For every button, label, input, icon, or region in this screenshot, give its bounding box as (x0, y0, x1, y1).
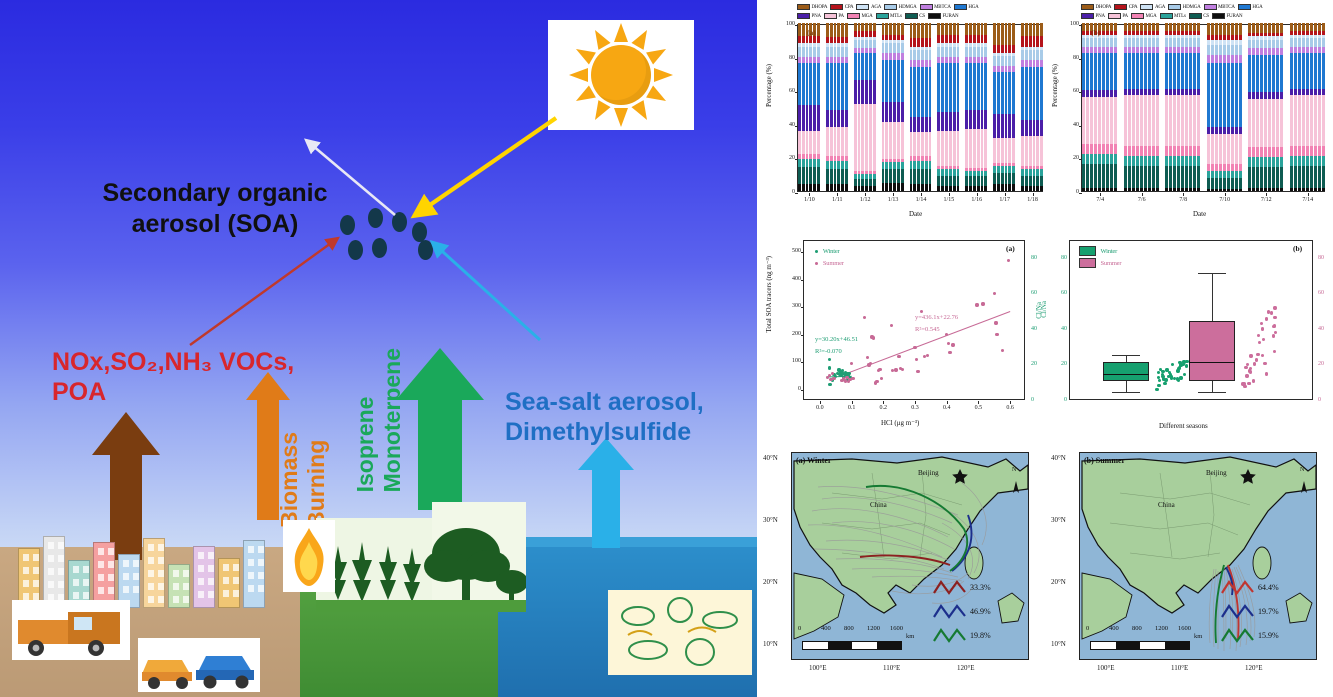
bar-segment (984, 186, 987, 191)
bar-segment (1165, 146, 1168, 156)
bar-segment (869, 80, 872, 104)
raw-data-point (1245, 374, 1248, 377)
bar-segment (1152, 188, 1155, 191)
city-illustration (18, 532, 268, 608)
bar-segment (1248, 147, 1251, 157)
bar-segment (1082, 154, 1085, 164)
bar-segment (1298, 95, 1301, 145)
bar-segment (1219, 171, 1222, 178)
bar-segment (1290, 89, 1293, 96)
bar-segment (1235, 189, 1238, 191)
bar-segment (1005, 166, 1008, 173)
bar-segment (869, 40, 872, 48)
bar-segment (1033, 36, 1036, 46)
bar-segment (941, 47, 944, 57)
legend-swatch-pa (1108, 13, 1121, 19)
bar-segment (1169, 47, 1172, 54)
legend-item-hdmga: HDMGA (1168, 4, 1200, 10)
xlabel-stacked-winter: Date (909, 210, 922, 218)
bar-segment (1102, 164, 1105, 188)
bar-segment (1173, 146, 1176, 156)
bar-segment (865, 40, 868, 48)
bar-segment (830, 37, 833, 44)
y-tick-label: 80 (1055, 255, 1067, 261)
bar-segment (1148, 188, 1151, 191)
x-tick-label: 1/13 (882, 197, 904, 203)
cluster-line-icon (932, 603, 968, 621)
scale-tick-label: 800 (1132, 625, 1142, 632)
scale-unit-label: km (1194, 633, 1202, 640)
bar-segment (1124, 146, 1127, 156)
bar-segment (984, 63, 987, 110)
bar-segment (1272, 55, 1275, 92)
raw-data-point (1158, 379, 1161, 382)
stacked-bar (929, 23, 932, 191)
bar-segment (1231, 189, 1234, 191)
bar-segment (1012, 166, 1015, 173)
bar-segment (1185, 53, 1188, 88)
bar-segment (1005, 184, 1008, 191)
bar-segment (1211, 189, 1214, 191)
cluster-line-icon (1220, 579, 1256, 597)
bar-segment (1094, 90, 1097, 97)
bar-segment (1106, 97, 1109, 144)
truck-illustration (12, 600, 130, 660)
bar-segment (901, 102, 904, 122)
bar-segment (925, 50, 928, 60)
bar-segment (977, 129, 980, 168)
bar-segment (893, 23, 896, 35)
bar-segment (1152, 23, 1155, 31)
stacked-bar (1094, 23, 1097, 191)
bar-segment (1114, 144, 1117, 154)
bar-segment (993, 72, 996, 113)
bar-segment (1106, 154, 1109, 164)
bar-segment (837, 23, 840, 36)
bar-segment (1098, 97, 1101, 144)
bar-segment (837, 63, 840, 110)
bar-segment (885, 122, 888, 159)
bar-segment (873, 186, 876, 191)
bar-segment (1001, 166, 1004, 173)
bar-segment (917, 169, 920, 184)
stacked-bar (997, 23, 1000, 191)
bar-segment (941, 35, 944, 43)
bar-segment (1114, 47, 1117, 54)
bar-segment (984, 129, 987, 168)
city-label-beijing: Beijing (1206, 469, 1227, 477)
bar-segment (1260, 55, 1263, 92)
bar-segment (1110, 188, 1113, 191)
bar-segment (917, 23, 920, 38)
bar-segment (1040, 67, 1043, 121)
scatter-point (981, 302, 984, 305)
annotation-winter-r2: R²=-0.070 (815, 348, 842, 355)
bar-segment (1136, 188, 1139, 191)
bar-segment (1227, 55, 1230, 63)
bar-segment (1012, 138, 1015, 163)
bar-segment (1169, 146, 1172, 156)
bar-segment (1086, 154, 1089, 164)
bar-segment (1294, 156, 1297, 166)
bar-segment (981, 129, 984, 168)
bar-segment (1197, 188, 1200, 191)
bar-segment (949, 112, 952, 130)
bar-segment (1189, 47, 1192, 54)
bar-segment (817, 105, 820, 130)
bar-segment (1189, 38, 1192, 46)
stacked-bar (993, 23, 996, 191)
bar-segment (1086, 97, 1089, 144)
legend-swatch-dhopa (797, 4, 810, 10)
bar-segment (1310, 89, 1313, 96)
bar-segment (1219, 127, 1222, 134)
ylabel-stacked-winter: Percentage (%) (765, 64, 773, 107)
bar-segment (802, 57, 805, 64)
bar-segment (858, 104, 861, 171)
bar-segment (1040, 136, 1043, 166)
raw-data-point (1165, 368, 1168, 371)
bar-segment (841, 110, 844, 127)
bar-segment (1005, 56, 1008, 66)
bar-segment (858, 40, 861, 48)
bar-segment (1132, 47, 1135, 54)
bar-segment (1223, 23, 1226, 35)
box-winter (1103, 362, 1149, 382)
bar-segment (1318, 156, 1321, 166)
bar-segment (1136, 53, 1139, 88)
bar-segment (1001, 66, 1004, 73)
bar-segment (1124, 53, 1127, 88)
bar-segment (1185, 156, 1188, 166)
bar-segment (1165, 47, 1168, 54)
bar-segment (973, 186, 976, 191)
bar-segment (977, 110, 980, 128)
scale-segment (1116, 642, 1141, 649)
bar-segment (861, 53, 864, 80)
map-panel-tag: (a) Winter (796, 456, 831, 465)
bar-segment (897, 183, 900, 191)
bar-segment (910, 60, 913, 67)
bar-segment (1181, 156, 1184, 166)
stacked-bar (858, 23, 861, 191)
bar-segment (1036, 23, 1039, 36)
bar-segment (965, 57, 968, 64)
legend-item-hdmga: HDMGA (884, 4, 916, 10)
bar-segment (1219, 164, 1222, 171)
bar-segment (806, 63, 809, 105)
scatter-point (878, 368, 881, 371)
right-y-tick-label: 0 (1318, 397, 1321, 403)
bar-segment (830, 127, 833, 156)
building (18, 548, 40, 608)
bar-segment (993, 184, 996, 191)
country-label: China (870, 501, 887, 509)
bar-segment (984, 35, 987, 43)
bar-segment (1314, 23, 1317, 31)
raw-data-point (1253, 362, 1256, 365)
bar-segment (1314, 188, 1317, 191)
bar-segment (826, 169, 829, 184)
legend-label-cs: CS (1203, 14, 1209, 19)
x-tick (1225, 193, 1226, 196)
legend-item-cs: CS (1189, 13, 1209, 19)
whisker-line (1126, 355, 1127, 362)
bar-segment (1227, 63, 1230, 127)
x-tick (1100, 193, 1101, 196)
bar-segment (921, 50, 924, 60)
bar-segment (798, 105, 801, 130)
scale-tick-label: 1200 (867, 625, 880, 632)
bar-segment (1090, 188, 1093, 191)
bar-segment (921, 184, 924, 191)
bar-segment (826, 184, 829, 191)
x-tick (893, 193, 894, 196)
bar-segment (1219, 189, 1222, 191)
bar-segment (1239, 63, 1242, 127)
legend-label-pa: PA (1122, 14, 1128, 19)
bar-segment (1181, 47, 1184, 54)
x-tick (865, 193, 866, 196)
stacked-bar (917, 23, 920, 191)
bar-segment (1219, 63, 1222, 127)
scale-tick-label: 400 (821, 625, 831, 632)
map-y-tick-label: 40°N (763, 454, 778, 462)
bar-segment (1165, 89, 1168, 96)
bar-segment (1231, 134, 1234, 164)
bar-segment (1114, 38, 1117, 46)
stacked-bar (949, 23, 952, 191)
bar-segment (1227, 134, 1230, 164)
bar-segment (1248, 188, 1251, 191)
bar-segment (1252, 40, 1255, 48)
bar-segment (1106, 23, 1109, 31)
bar-segment (1106, 164, 1109, 188)
bar-segment (1197, 53, 1200, 88)
x-tick-label: 0.3 (906, 405, 924, 411)
cluster-percentage: 64.4% (1258, 583, 1279, 592)
raw-data-point (1176, 369, 1179, 372)
bar-segment (1211, 171, 1214, 178)
bar-segment (1306, 89, 1309, 96)
bar-segment (809, 167, 812, 184)
bar-segment (1140, 188, 1143, 191)
map-scale-bar (802, 641, 902, 650)
bar-segment (1181, 23, 1184, 31)
bar-segment (1197, 89, 1200, 96)
bar-segment (1235, 134, 1238, 164)
legend-swatch-hga (1238, 4, 1251, 10)
bar-segment (1029, 186, 1032, 191)
bar-segment (957, 57, 960, 64)
bar-segment (1314, 95, 1317, 145)
bar-segment (1280, 147, 1283, 157)
legend-label-mtls: MTLs (1174, 14, 1186, 19)
bar-segment (1197, 38, 1200, 46)
bar-segment (921, 161, 924, 169)
bar-segment (1156, 89, 1159, 96)
bar-segment (953, 169, 956, 176)
bar-segment (929, 38, 932, 46)
x-tick-label: 7/6 (1131, 197, 1153, 203)
bar-segment (885, 60, 888, 102)
bar-segment (841, 23, 844, 36)
bar-segment (1294, 188, 1297, 191)
bar-segment (865, 23, 868, 31)
bar-segment (1197, 166, 1200, 188)
bar-segment (949, 169, 952, 176)
bar-segment (937, 112, 940, 130)
bar-segment (1173, 89, 1176, 96)
bar-segment (921, 60, 924, 67)
bar-segment (1280, 99, 1283, 148)
bar-segment (1144, 47, 1147, 54)
bar-segment (1156, 95, 1159, 145)
bar-segment (1169, 95, 1172, 145)
bar-segment (1322, 146, 1325, 156)
bar-segment (965, 23, 968, 35)
bar-segment (882, 43, 885, 53)
y-tick-label: 80 (779, 55, 795, 61)
bar-segment (973, 63, 976, 110)
bar-segment (1207, 171, 1210, 178)
bar-segment (1185, 188, 1188, 191)
bar-segment (798, 63, 801, 105)
bar-segment (1193, 166, 1196, 188)
stacked-bar (802, 23, 805, 191)
bar-segment (798, 36, 801, 43)
bar-segment (1223, 171, 1226, 178)
bar-segment (1223, 164, 1226, 171)
x-tick-label: 1/17 (994, 197, 1016, 203)
x-tick (1010, 401, 1011, 404)
bar-segment (945, 112, 948, 130)
bar-segment (1102, 154, 1105, 164)
bar-segment (873, 40, 876, 48)
bar-segment (841, 57, 844, 64)
bar-segment (1094, 47, 1097, 54)
bar-segment (813, 105, 816, 130)
bar-segment (901, 53, 904, 60)
stacked-bar (1276, 23, 1279, 191)
bar-segment (957, 186, 960, 191)
legend-item-mbtca: MBTCA (920, 4, 951, 10)
bar-segment (854, 53, 857, 80)
map-y-tick-label: 10°N (1051, 640, 1066, 648)
bar-segment (1132, 95, 1135, 145)
stacked-bar (1152, 23, 1155, 191)
bar-segment (1094, 188, 1097, 191)
bar-segment (845, 37, 848, 44)
bar-segment (1148, 47, 1151, 54)
bar-segment (841, 63, 844, 110)
legend-label-mga: MGA (1145, 14, 1156, 19)
bar-segment (1008, 56, 1011, 66)
bar-segment (1223, 134, 1226, 164)
bar-segment (1294, 89, 1297, 96)
bar-segment (901, 162, 904, 169)
raw-data-point (1261, 327, 1264, 330)
bar-segment (1033, 186, 1036, 191)
bar-segment (1090, 97, 1093, 144)
bar-segment (1290, 156, 1293, 166)
bar-segment (973, 110, 976, 128)
bar-segment (1181, 95, 1184, 145)
bar-segment (941, 169, 944, 176)
stacked-bar (953, 23, 956, 191)
stacked-bar (817, 23, 820, 191)
bar-segment (1008, 184, 1011, 191)
bar-segment (1256, 40, 1259, 48)
bar-segment (1256, 55, 1259, 92)
bar-segment (1231, 171, 1234, 178)
bar-segment (1231, 63, 1234, 127)
bar-segment (1298, 146, 1301, 156)
bar-segment (1306, 188, 1309, 191)
bar-segment (969, 110, 972, 128)
bar-segment (1280, 167, 1283, 187)
bar-segment (1148, 156, 1151, 166)
bar-segment (1086, 188, 1089, 191)
x-tick-label: 7/14 (1297, 197, 1319, 203)
bar-segment (1114, 188, 1117, 191)
bar-segment (969, 129, 972, 168)
bar-segment (941, 176, 944, 186)
stacked-bar (1090, 23, 1093, 191)
bar-segment (1021, 186, 1024, 191)
bar-segment (1264, 40, 1267, 48)
bar-segment (993, 23, 996, 44)
bar-segment (1136, 38, 1139, 46)
map-y-tick-label: 30°N (763, 516, 778, 524)
bar-segment (798, 47, 801, 57)
bar-segment (941, 23, 944, 35)
bar-segment (1144, 38, 1147, 46)
bar-segment (1005, 23, 1008, 44)
bar-segment (981, 23, 984, 35)
bar-segment (973, 35, 976, 43)
bar-segment (830, 169, 833, 184)
bar-segment (1290, 38, 1293, 46)
bar-segment (1165, 166, 1168, 188)
map-plot-area: (a) WinterChinaBeijingN33.3%46.9%19.8%04… (791, 452, 1029, 660)
legend-swatch-dhopa (1081, 4, 1094, 10)
bar-segment (1148, 89, 1151, 96)
legend-swatch-cs (905, 13, 918, 19)
bar-segment (969, 47, 972, 57)
bar-segment (1322, 166, 1325, 188)
bar-segment (802, 47, 805, 57)
bar-segment (1302, 53, 1305, 88)
raw-data-point (1261, 354, 1264, 357)
y-tick-label: 20 (1063, 155, 1079, 161)
bar-segment (1110, 144, 1113, 154)
bar-segment (917, 67, 920, 117)
bar-segment (997, 166, 1000, 173)
legend-label-pa: PA (838, 14, 844, 19)
bar-segment (917, 117, 920, 132)
stacked-bar (1227, 23, 1230, 191)
bar-segment (929, 169, 932, 184)
legend-label-cpa: CPA (1129, 5, 1138, 10)
bar-segment (1231, 127, 1234, 134)
chart-stacked-summer: DHOPACPAAGAHDMGAMBTCAHGA PNAPAMGAMTLsCSF… (1051, 2, 1331, 230)
bar-segment (1268, 188, 1271, 191)
bar-segment (869, 104, 872, 171)
bar-segment (798, 57, 801, 64)
bar-segment (1098, 154, 1101, 164)
stacked-bar (984, 23, 987, 191)
